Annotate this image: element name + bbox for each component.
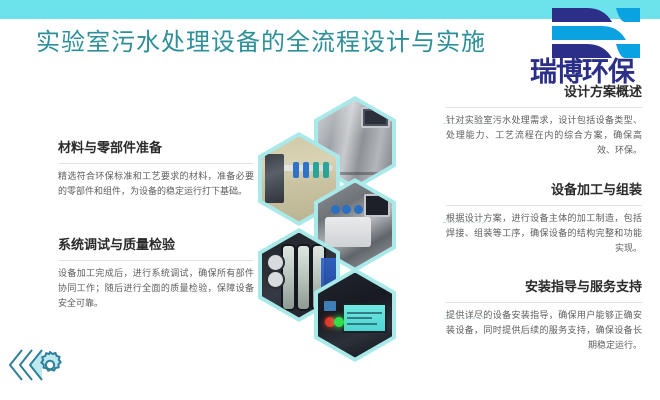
- slide-canvas: 实验室污水处理设备的全流程设计与实施 瑞博环保: [0, 0, 660, 400]
- text-block-title: 系统调试与质量检验: [58, 237, 254, 260]
- text-block-design-overview: 设计方案概述 针对实验室污水处理需求，设计包括设备类型、处理能力、工艺流程在内的…: [446, 84, 642, 159]
- text-block-title: 设备加工与组装: [446, 182, 642, 205]
- text-block-title: 设计方案概述: [446, 84, 642, 107]
- text-block-installation-support: 安装指导与服务支持 提供详尽的设备安装指导，确保用户能够正确安装设备，同时提供后…: [446, 279, 642, 354]
- page-title: 实验室污水处理设备的全流程设计与实施: [36, 27, 486, 57]
- text-block-materials: 材料与零部件准备 精选符合环保标准和工艺要求的材料，准备必要的零部件和组件，为设…: [58, 140, 254, 200]
- divider: [446, 107, 642, 108]
- text-block-title: 材料与零部件准备: [58, 140, 254, 163]
- text-block-body: 提供详尽的设备安装指导，确保用户能够正确安装设备，同时提供后续的服务支持，确保设…: [446, 309, 642, 354]
- company-logo: 瑞博环保: [518, 6, 646, 92]
- divider: [58, 163, 254, 164]
- text-block-commissioning: 系统调试与质量检验 设备加工完成后，进行系统调试，确保所有部件协同工作；随后进行…: [58, 237, 254, 312]
- text-block-body: 设备加工完成后，进行系统调试，确保所有部件协同工作；随后进行全面的质量检验，保障…: [58, 267, 254, 312]
- divider: [58, 260, 254, 261]
- text-block-body: 针对实验室污水处理需求，设计包括设备类型、处理能力、工艺流程在内的综合方案，确保…: [446, 114, 642, 159]
- text-block-fabrication: 设备加工与组装 根据设计方案，进行设备主体的加工制造，包括焊接、组装等工序，确保…: [446, 182, 642, 257]
- divider: [446, 205, 642, 206]
- text-block-body: 精选符合环保标准和工艺要求的材料，准备必要的零部件和组件，为设备的稳定运行打下基…: [58, 170, 254, 200]
- gear-chevrons-icon: [8, 342, 70, 388]
- text-block-title: 安装指导与服务支持: [446, 279, 642, 302]
- text-block-body: 根据设计方案，进行设备主体的加工制造，包括焊接、组装等工序，确保设备的结构完整和…: [446, 212, 642, 257]
- hexagon-image-cluster: [252, 96, 447, 366]
- logo-mark-icon: [532, 6, 642, 60]
- divider: [446, 302, 642, 303]
